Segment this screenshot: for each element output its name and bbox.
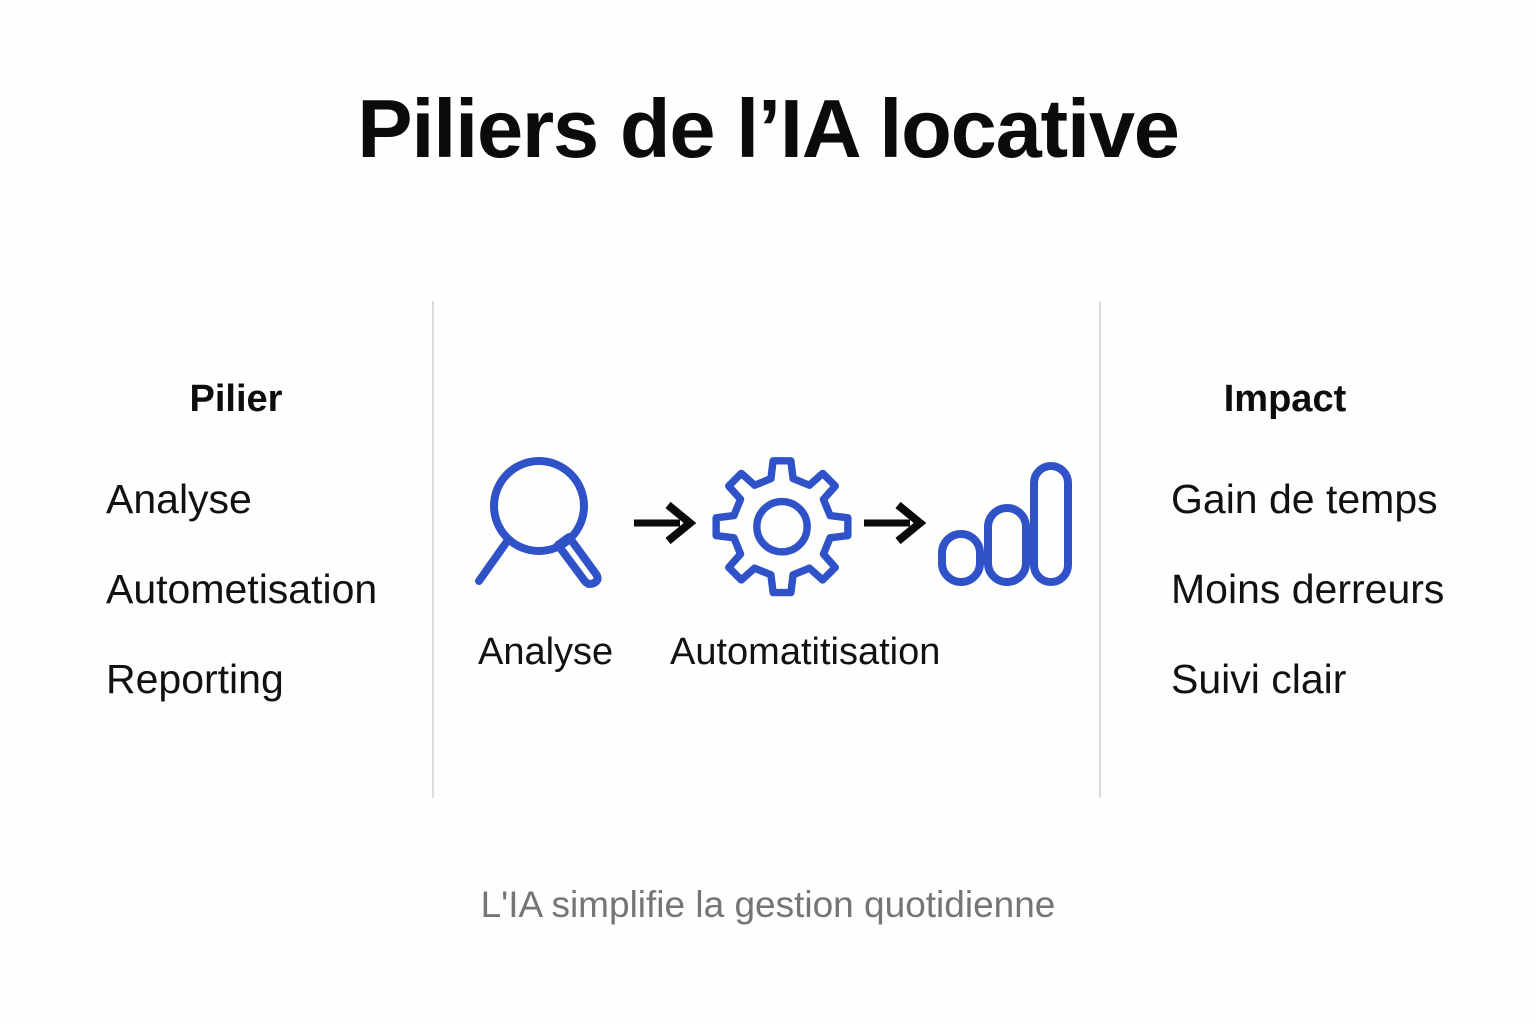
magnifier-icon — [470, 448, 620, 598]
list-item: Moins derreurs — [1171, 568, 1444, 611]
list-item: Suivi clair — [1171, 658, 1444, 701]
bar-2 — [988, 508, 1026, 582]
bar-1 — [942, 534, 980, 582]
list-item: Gain de temps — [1171, 478, 1444, 521]
column-list-impact: Gain de temps Moins derreurs Suivi clair — [1171, 478, 1444, 701]
divider-right — [1099, 301, 1101, 798]
process-flow-labels: Analyse Automatitisation — [470, 632, 1070, 686]
column-list-pilier: Analyse Autometisation Reporting — [106, 478, 377, 701]
page-title: Piliers de l’IA locative — [0, 85, 1536, 172]
column-header-impact: Impact — [1172, 380, 1398, 418]
process-flow-diagram — [470, 448, 1062, 598]
bar-3 — [1034, 466, 1068, 582]
column-header-pilier: Pilier — [108, 380, 364, 418]
bar-chart-icon — [936, 458, 1072, 588]
arrow-right-icon — [632, 497, 698, 549]
arrow-right-icon — [862, 497, 928, 549]
flow-step-label-analyse: Analyse — [478, 632, 613, 674]
gear-icon — [708, 449, 856, 597]
divider-left — [432, 301, 434, 798]
list-item: Autometisation — [106, 568, 377, 611]
slide-canvas: Piliers de l’IA locative Pilier Analyse … — [0, 0, 1536, 1024]
list-item: Reporting — [106, 658, 377, 701]
list-item: Analyse — [106, 478, 377, 521]
footer-caption: L'IA simplifie la gestion quotidienne — [0, 885, 1536, 926]
flow-step-label-automatisation: Automatitisation — [670, 632, 940, 674]
